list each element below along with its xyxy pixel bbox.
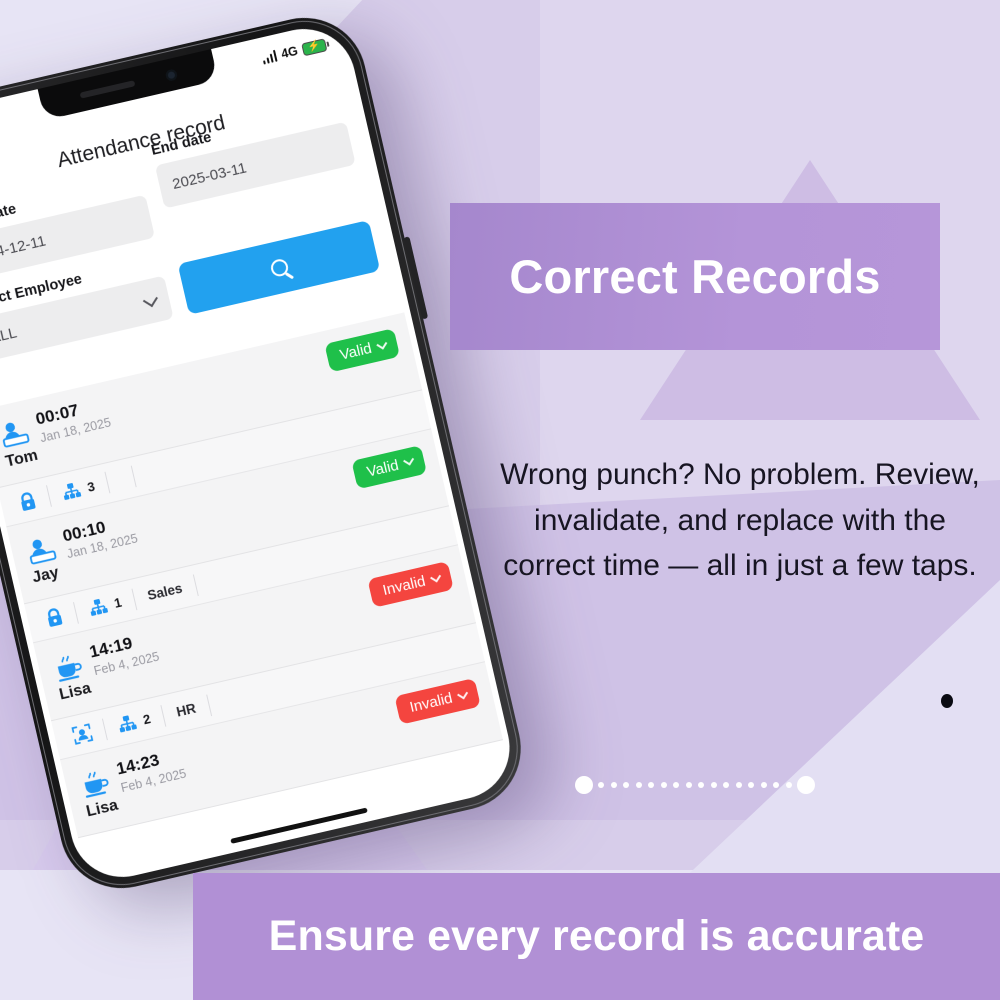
coffee-cup-icon (50, 649, 86, 685)
status-badge[interactable]: Invalid (394, 678, 481, 725)
status-badge[interactable]: Valid (351, 445, 427, 489)
body-copy-text: Wrong punch? No problem. Review, invalid… (500, 452, 980, 589)
search-icon (269, 257, 289, 277)
attendance-record-list[interactable]: 00:07 Jan 18, 2025 Valid Tom (0, 311, 509, 839)
org-count-cell: 1 (74, 588, 138, 623)
signal-bars-icon (261, 50, 278, 65)
org-count-value: 1 (113, 595, 123, 611)
department-cell: Sales (133, 574, 199, 609)
face-recognition-icon (71, 723, 94, 746)
dot-line-end-circle (797, 776, 815, 794)
status-badge-label: Invalid (408, 690, 454, 716)
lock-icon (17, 490, 38, 512)
search-button[interactable] (178, 220, 381, 315)
org-chart-icon (116, 713, 138, 734)
org-chart-icon (87, 597, 109, 618)
org-count-value: 2 (142, 711, 152, 727)
status-indicators: 4G ⚡ (261, 37, 328, 65)
org-count-cell: 3 (47, 472, 111, 507)
coffee-cup-icon (77, 765, 113, 801)
select-employee-field: Select Employee ALL (0, 253, 174, 362)
chevron-down-icon (457, 688, 468, 699)
auth-method-cell (40, 602, 79, 631)
earpiece-speaker-icon (79, 80, 135, 98)
person-at-desk-icon (23, 532, 59, 568)
org-chart-icon (60, 481, 82, 502)
person-at-desk-icon (0, 416, 33, 452)
org-count-value: 3 (86, 478, 96, 494)
headline-banner: Correct Records (450, 203, 940, 350)
status-badge-label: Valid (338, 340, 373, 364)
status-badge[interactable]: Valid (324, 328, 400, 372)
chevron-down-icon (403, 455, 414, 466)
front-camera-icon (164, 68, 177, 81)
status-badge-label: Valid (365, 457, 400, 481)
department-value: Sales (146, 581, 184, 604)
battery-charging-icon: ⚡ (301, 38, 327, 56)
department-value: HR (175, 701, 197, 720)
chevron-down-icon (143, 292, 158, 307)
auth-method-cell (67, 718, 108, 748)
footer-banner: Ensure every record is accurate (193, 873, 1000, 1000)
decorative-dot (941, 694, 953, 708)
department-cell (106, 466, 137, 494)
employee-select-value: ALL (0, 324, 18, 347)
footer-text: Ensure every record is accurate (269, 912, 925, 961)
dot-line-start-circle (575, 776, 593, 794)
auth-method-cell (13, 485, 52, 514)
department-cell: HR (162, 694, 212, 726)
chevron-down-icon (430, 571, 441, 582)
progress-dot-line (575, 776, 815, 794)
chevron-down-icon (376, 338, 387, 349)
status-badge-label: Invalid (381, 573, 427, 599)
dot-line-middle (593, 782, 797, 788)
status-badge[interactable]: Invalid (367, 561, 454, 608)
lock-icon (44, 607, 65, 629)
network-type-label: 4G (280, 44, 299, 61)
headline-text: Correct Records (509, 249, 880, 304)
org-count-cell: 2 (103, 705, 167, 740)
